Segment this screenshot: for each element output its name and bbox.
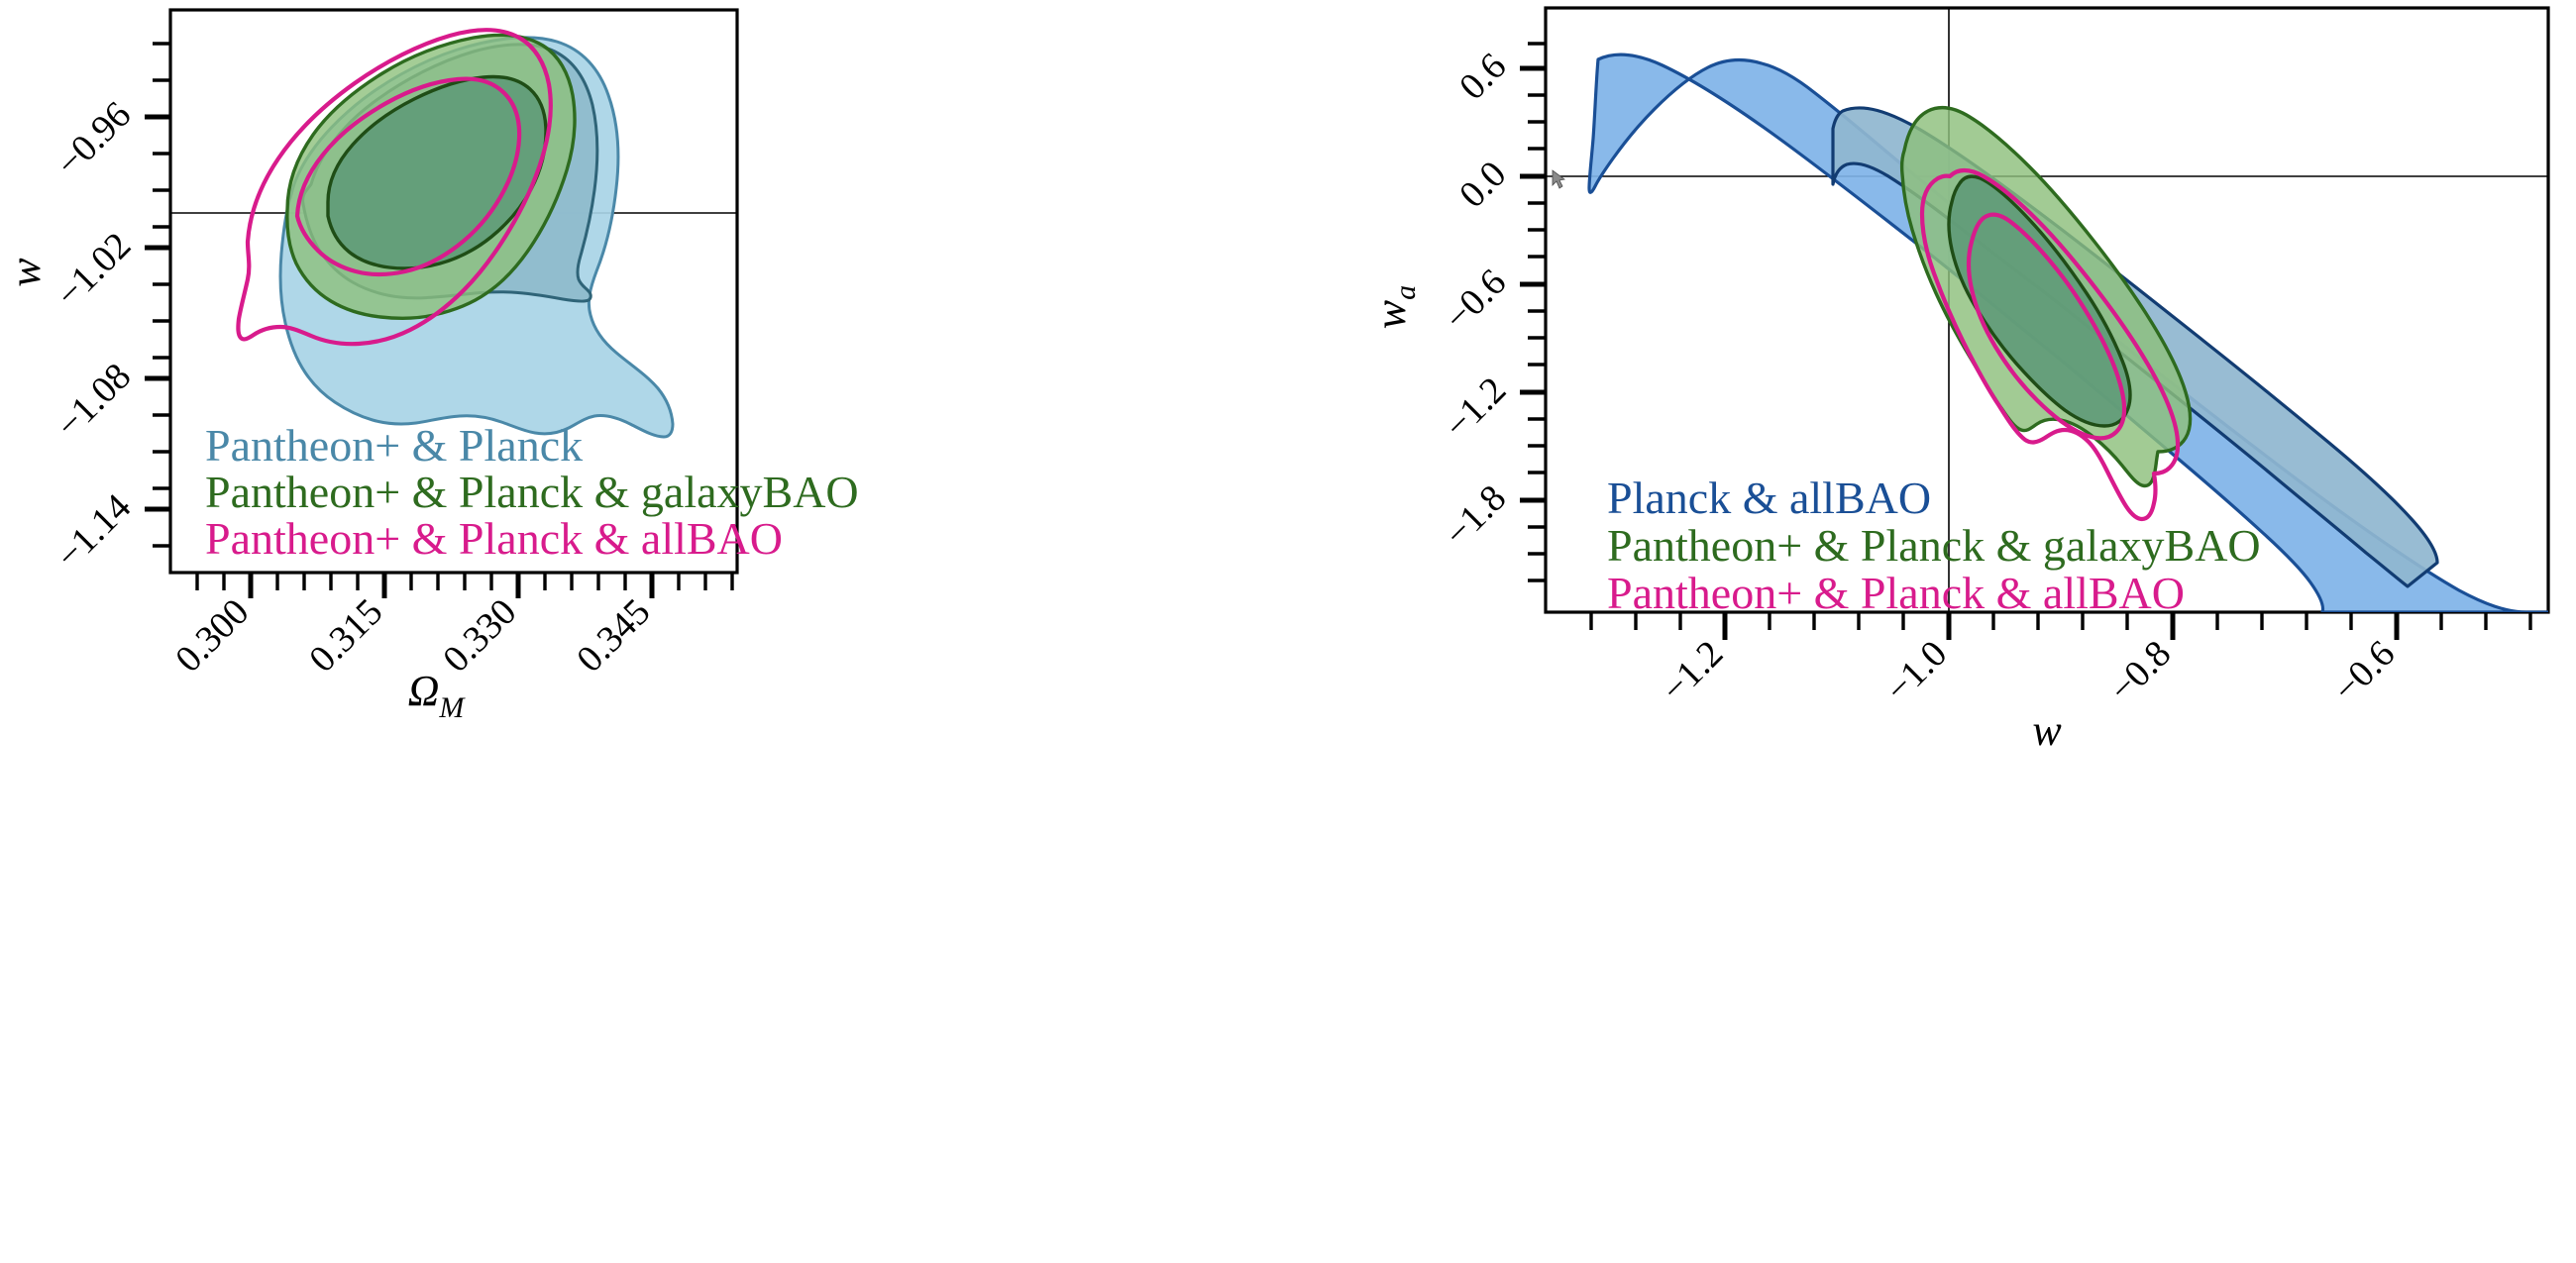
y-axis-ticks: [1520, 44, 1546, 580]
y-tick-label-1: 0.0: [1451, 154, 1514, 216]
legend-item-2[interactable]: Pantheon+ & Planck & allBAO: [1607, 568, 2185, 618]
y-axis-title: w: [1, 258, 50, 287]
legend-item-1[interactable]: Pantheon+ & Planck & galaxyBAO: [1607, 520, 2261, 571]
legend-item-2[interactable]: Pantheon+ & Planck & allBAO: [205, 513, 783, 564]
x-tick-label-1: −1.0: [1878, 633, 1955, 710]
x-axis-title: ΩM: [408, 667, 467, 724]
svg-text:wa: wa: [1366, 285, 1422, 329]
y-tick-label-0: 0.6: [1451, 46, 1514, 108]
y-tick-labels: −0.96 −1.02 −1.08 −1.14: [48, 94, 139, 578]
legend-item-0[interactable]: Planck & allBAO: [1607, 473, 1931, 523]
figure-container: 0.300 0.315 0.330 0.345 −0.96 −1.02 −1.0…: [0, 0, 2576, 1263]
x-tick-label-1: 0.315: [301, 591, 390, 681]
x-axis-title-sub: M: [438, 691, 466, 724]
x-axis-title: w: [2032, 706, 2062, 755]
y-tick-label-2: −1.08: [48, 356, 139, 447]
y-axis-ticks: [145, 44, 170, 546]
svg-text:ΩM: ΩM: [408, 667, 467, 724]
x-tick-label-3: 0.345: [569, 591, 658, 681]
y-axis-title-main: w: [1366, 299, 1415, 329]
y-tick-label-1: −1.02: [48, 225, 139, 316]
legend: Pantheon+ & Planck Pantheon+ & Planck & …: [205, 420, 859, 564]
y-tick-label-2: −0.6: [1437, 262, 1514, 339]
y-tick-label-0: −0.96: [48, 94, 139, 185]
x-tick-label-2: 0.330: [435, 591, 524, 681]
panel-w-vs-wa: −1.2 −1.0 −0.8 −0.6 0.6 0.0 −0.6 −1.2 −1…: [1288, 0, 2576, 1263]
x-tick-label-3: −0.6: [2325, 633, 2403, 710]
x-axis-title-main: Ω: [408, 667, 440, 715]
x-tick-label-2: −0.8: [2101, 633, 2179, 710]
y-tick-label-3: −1.2: [1437, 369, 1514, 447]
y-tick-labels: 0.6 0.0 −0.6 −1.2 −1.8: [1437, 46, 1514, 555]
legend-item-1[interactable]: Pantheon+ & Planck & galaxyBAO: [205, 467, 859, 517]
y-axis-title-sub: a: [1389, 285, 1422, 300]
x-tick-label-0: −1.2: [1654, 633, 1731, 710]
panel-omega-m-vs-w: 0.300 0.315 0.330 0.345 −0.96 −1.02 −1.0…: [0, 0, 1288, 1263]
y-tick-label-3: −1.14: [48, 486, 139, 578]
y-tick-label-4: −1.8: [1437, 477, 1514, 555]
x-tick-label-0: 0.300: [167, 591, 257, 681]
y-axis-title: wa: [1366, 285, 1422, 329]
legend-item-0[interactable]: Pantheon+ & Planck: [205, 420, 583, 471]
x-axis-ticks: [197, 573, 732, 598]
x-tick-labels: −1.2 −1.0 −0.8 −0.6: [1654, 633, 2403, 710]
